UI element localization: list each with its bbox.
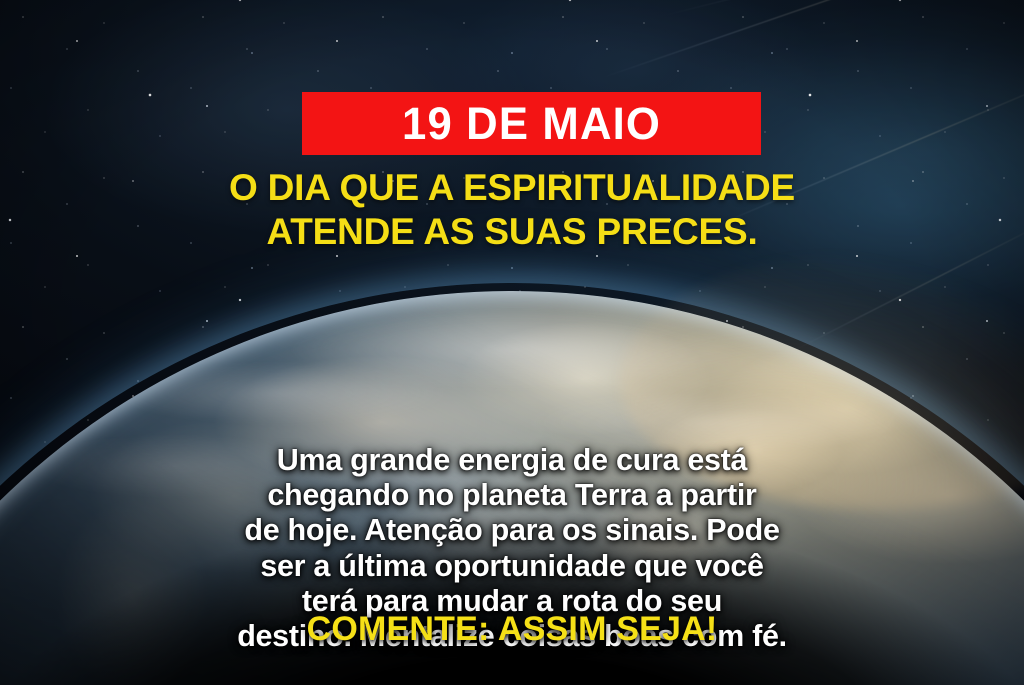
poster-canvas: 19 DE MAIO O DIA QUE A ESPIRITUALIDADE A… [0,0,1024,685]
call-to-action-text: COMENTE: ASSIM SEJA! [0,612,1024,646]
headline-line-2: ATENDE AS SUAS PRECES. [0,210,1024,254]
body-line-1: Uma grande energia de cura está [46,443,978,478]
body-line-3: de hoje. Atenção para os sinais. Pode [46,513,978,548]
headline-line-1: O DIA QUE A ESPIRITUALIDADE [0,166,1024,210]
body-line-4: ser a última oportunidade que você [46,549,978,584]
date-banner: 19 DE MAIO [302,92,761,155]
headline: O DIA QUE A ESPIRITUALIDADE ATENDE AS SU… [0,166,1024,253]
body-line-2: chegando no planeta Terra a partir [46,478,978,513]
poster-content: 19 DE MAIO O DIA QUE A ESPIRITUALIDADE A… [0,0,1024,685]
date-banner-text: 19 DE MAIO [402,101,661,146]
